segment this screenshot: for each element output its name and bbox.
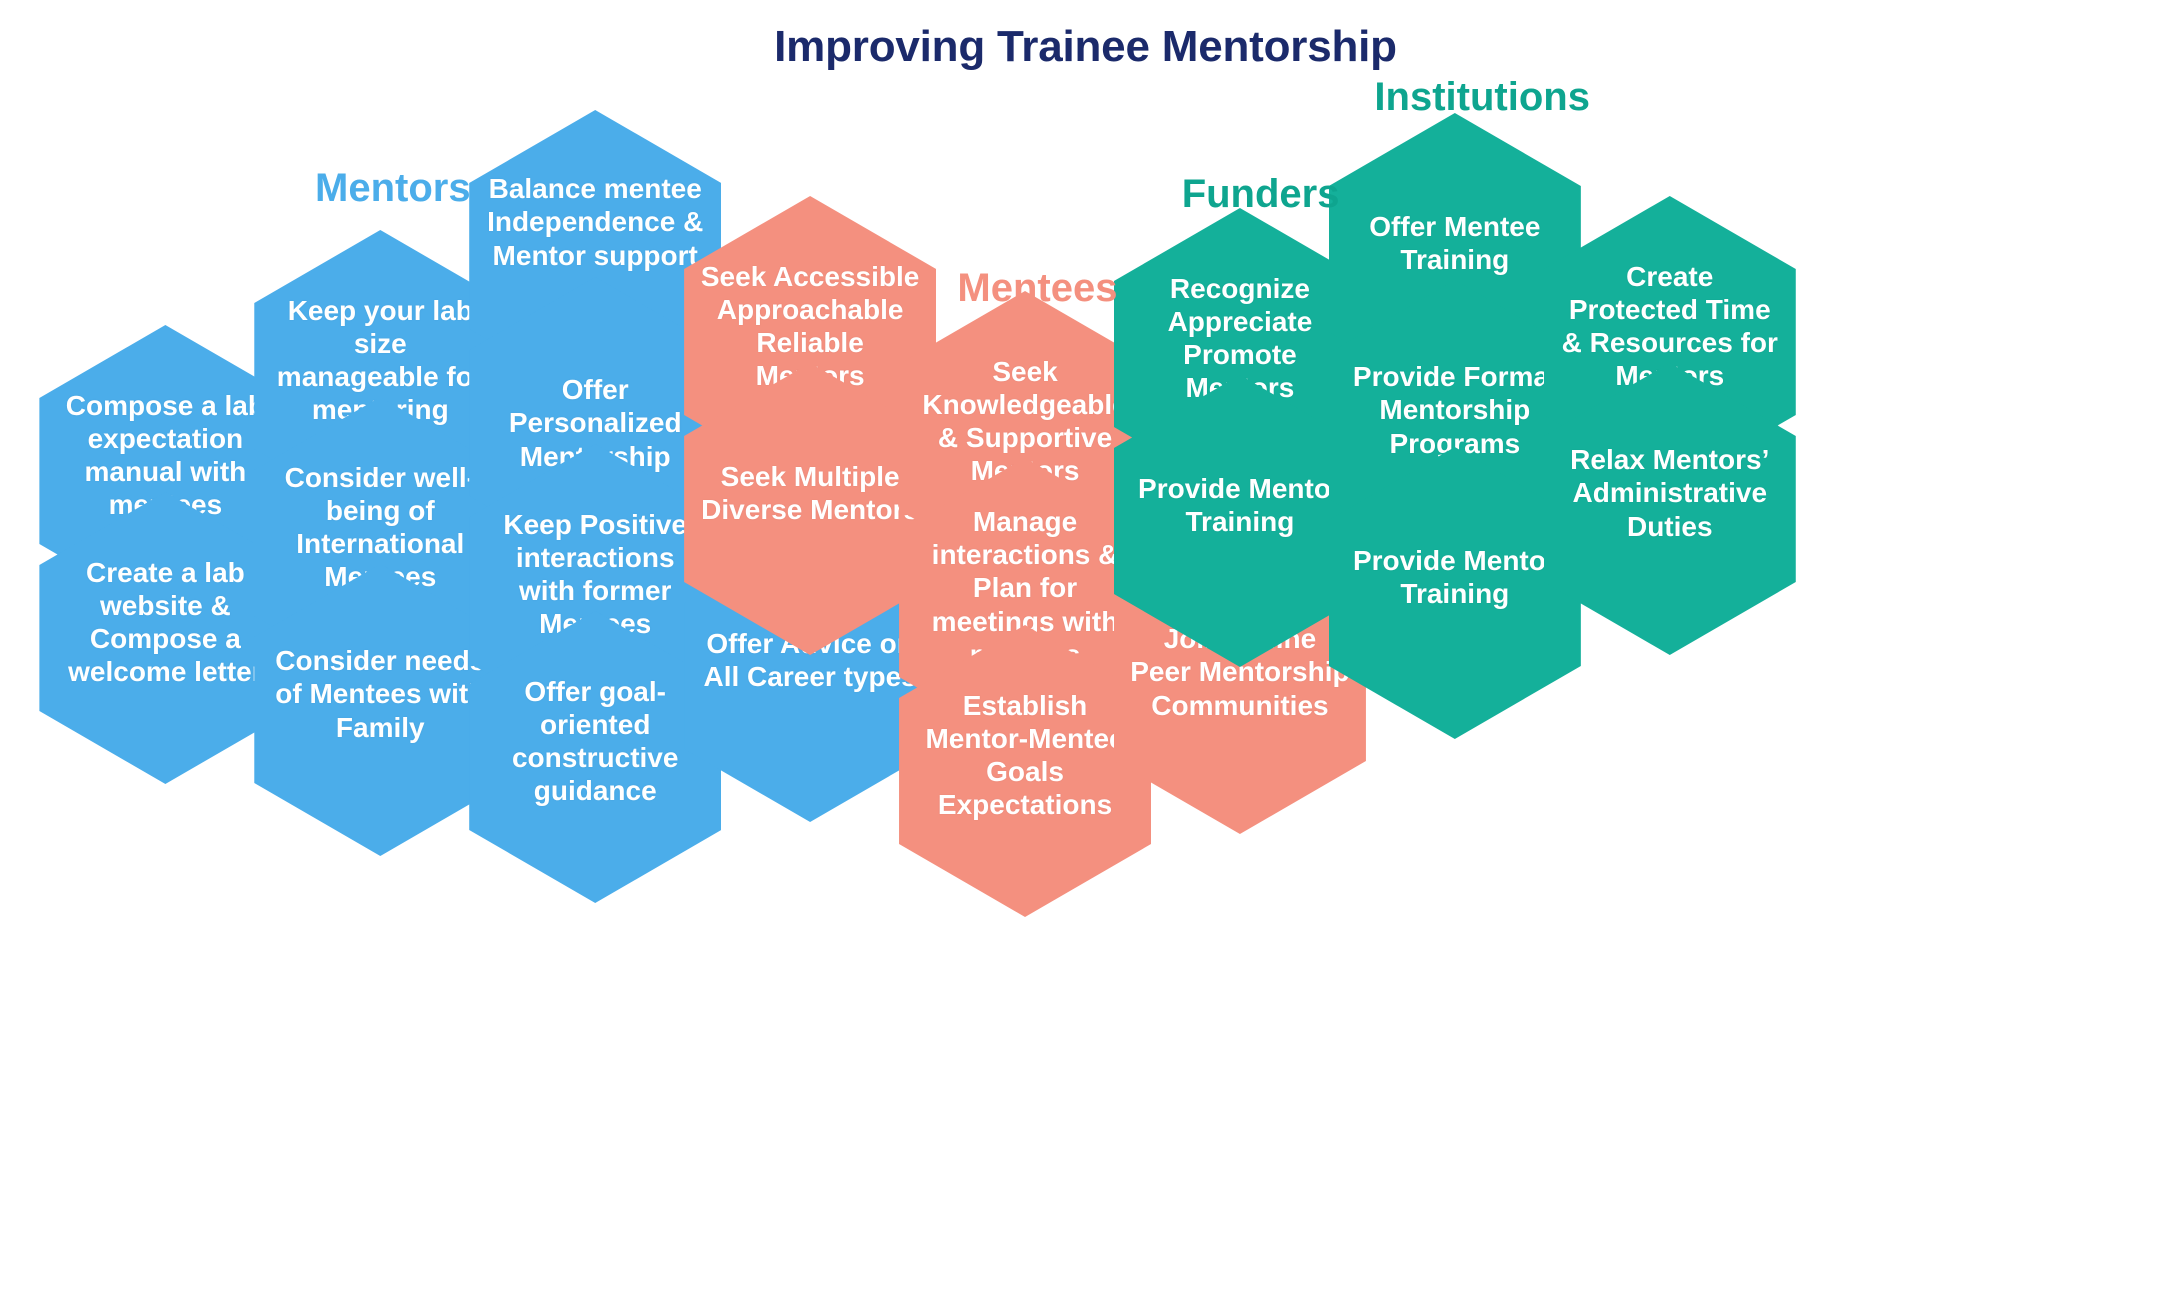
group-label-institutions: Institutions xyxy=(1374,75,1590,120)
hex-label: Balance mentee Independence & Mentor sup… xyxy=(485,172,705,271)
hex-label: Provide Formal Mentorship Programs xyxy=(1345,360,1565,459)
page-title: Improving Trainee Mentorship xyxy=(0,22,2171,72)
hex-label: Establish Mentor-Mentee Goals Expectatio… xyxy=(915,689,1135,821)
group-label-funders: Funders xyxy=(1182,172,1340,217)
hex-label: Provide Mentor Training xyxy=(1345,544,1565,610)
hex-label: Relax Mentors’ Administrative Duties xyxy=(1560,443,1780,542)
hex-label: Offer goal-oriented constructive guidanc… xyxy=(485,675,705,807)
hex-label: Offer Mentee Training xyxy=(1345,210,1565,276)
infographic-canvas: Improving Trainee Mentorship Compose a l… xyxy=(0,0,2171,1307)
group-label-mentors: Mentors xyxy=(315,166,471,211)
hex-label: Consider needs of Mentees with Family xyxy=(270,644,490,743)
hex-label: Provide Mentor Training xyxy=(1130,472,1350,538)
hex-label: Seek Multiple Diverse Mentors xyxy=(700,460,920,526)
hex-label: Create a lab website & Compose a welcome… xyxy=(55,556,275,688)
group-label-mentees: Mentees xyxy=(957,266,1117,311)
